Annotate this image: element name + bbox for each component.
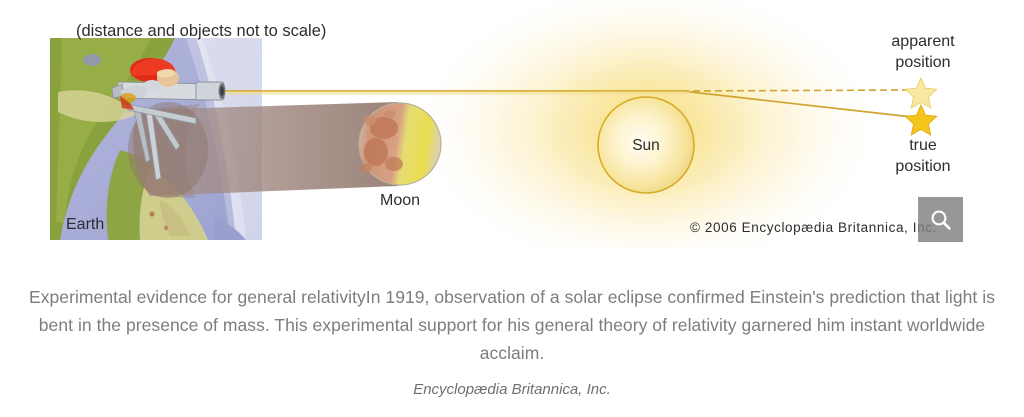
star-true-position bbox=[905, 105, 937, 135]
figure-container[interactable]: Sun bbox=[0, 0, 1024, 248]
solar-eclipse-illustration[interactable]: Sun bbox=[0, 0, 1024, 248]
true-position-label-line1: true bbox=[909, 137, 937, 154]
magnifier-icon bbox=[929, 208, 953, 232]
true-position-label-line2: position bbox=[895, 158, 950, 175]
sun-label: Sun bbox=[632, 137, 660, 154]
figure-credit: Encyclopædia Britannica, Inc. bbox=[0, 381, 1024, 398]
eclipse-figure-page: Sun bbox=[0, 0, 1024, 417]
zoom-image-button[interactable] bbox=[918, 197, 963, 242]
apparent-position-label-line2: position bbox=[895, 54, 950, 71]
apparent-position-label-line1: apparent bbox=[891, 33, 955, 50]
moon-label: Moon bbox=[380, 192, 420, 209]
figure-caption: Experimental evidence for general relati… bbox=[17, 283, 1007, 367]
star-apparent-position bbox=[905, 78, 937, 108]
caption-area: Experimental evidence for general relati… bbox=[0, 283, 1024, 398]
light-ray-apparent-dashed bbox=[682, 90, 908, 91]
copyright-notice: © 2006 Encyclopædia Britannica, Inc. bbox=[690, 220, 937, 235]
not-to-scale-note: (distance and objects not to scale) bbox=[76, 22, 326, 40]
earth-label: Earth bbox=[66, 216, 104, 233]
